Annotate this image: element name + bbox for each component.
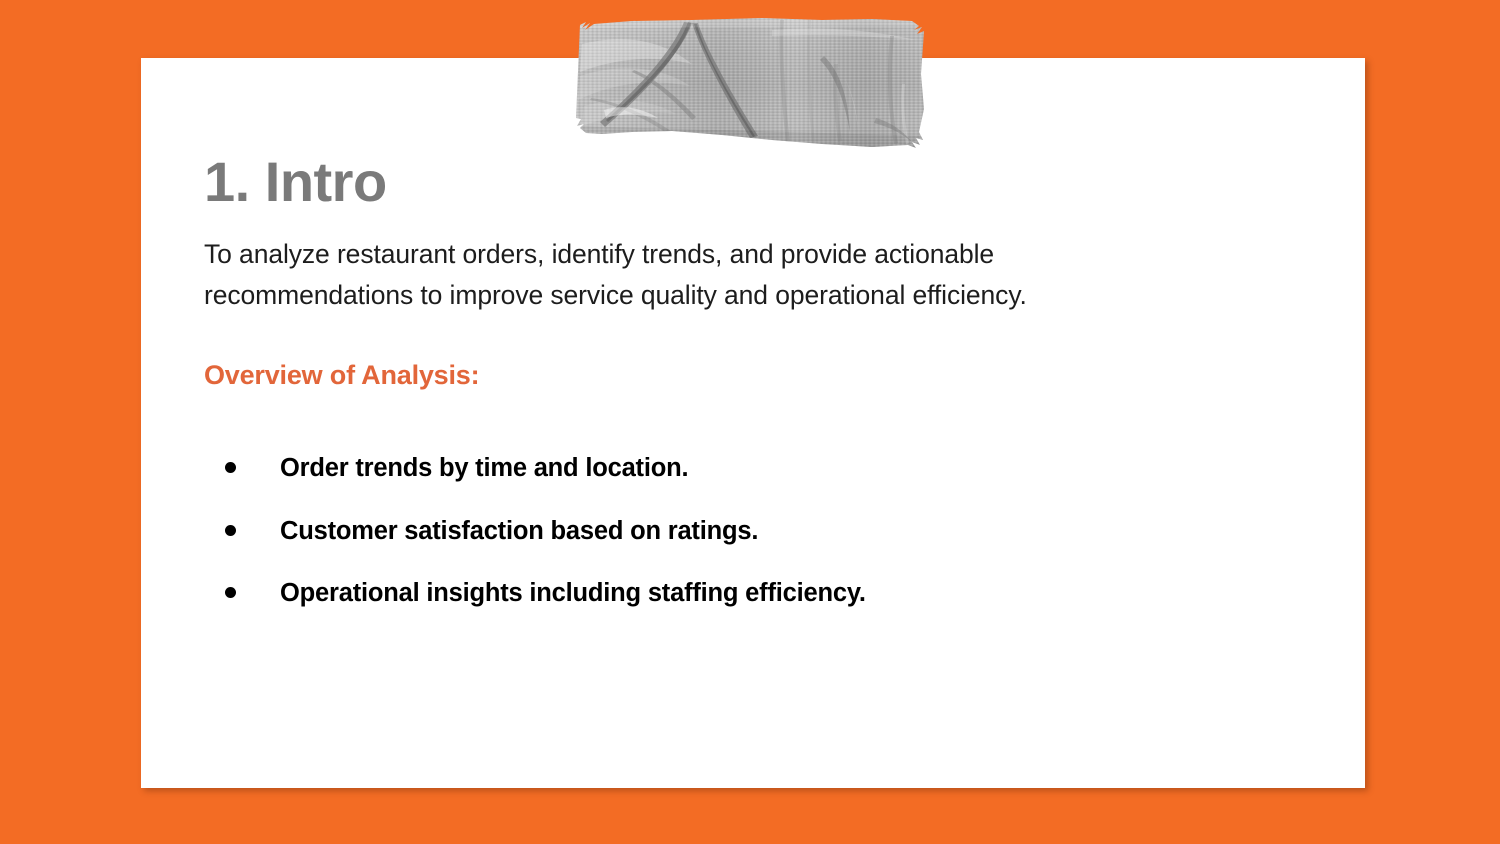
bullet-dot-icon [225,587,236,598]
slide-card: 1. Intro To analyze restaurant orders, i… [141,58,1365,788]
intro-paragraph: To analyze restaurant orders, identify t… [204,234,1189,317]
list-item: Order trends by time and location. [204,451,1284,485]
slide-content: 1. Intro To analyze restaurant orders, i… [204,153,1284,611]
list-item-label: Customer satisfaction based on ratings. [280,517,758,545]
page-title: 1. Intro [204,153,1284,212]
list-item: Operational insights including staffing … [204,576,1284,610]
list-item-label: Order trends by time and location. [280,454,688,482]
list-item: Customer satisfaction based on ratings. [204,514,1284,548]
slide-canvas: 1. Intro To analyze restaurant orders, i… [0,0,1500,844]
bullet-dot-icon [225,525,236,536]
section-heading-overview: Overview of Analysis: [204,360,1284,391]
bullet-dot-icon [225,462,236,473]
list-item-label: Operational insights including staffing … [280,579,866,607]
overview-bullet-list: Order trends by time and location. Custo… [204,451,1284,610]
